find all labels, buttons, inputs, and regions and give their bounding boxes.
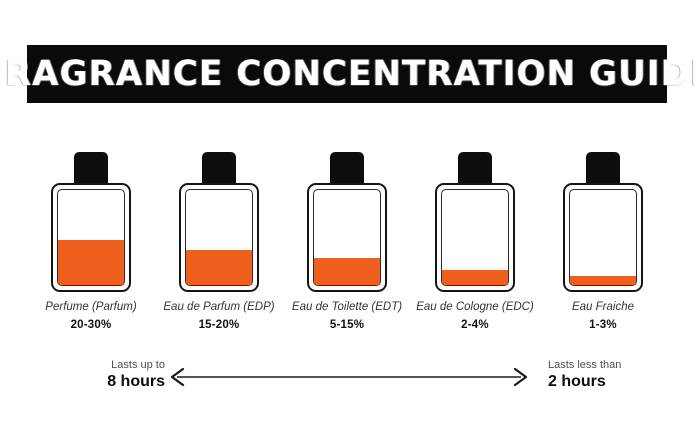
duration-right: Lasts less than 2 hours xyxy=(548,358,668,391)
bottle-labels: Perfume (Parfum) 20-30% Eau de Parfum (E… xyxy=(27,300,668,336)
bottle-body xyxy=(307,183,387,292)
bottle-body xyxy=(435,183,515,292)
bottle-fill-level xyxy=(314,258,380,285)
bottle-inner xyxy=(313,189,381,286)
bottle-label-name: Eau Fraiche xyxy=(528,300,678,315)
duration-scale: Lasts up to 8 hours Lasts less than 2 ho… xyxy=(27,358,668,402)
bottle-inner xyxy=(441,189,509,286)
bottle-body xyxy=(179,183,259,292)
bottle-inner xyxy=(57,189,125,286)
bottle-label-concentration: 1-3% xyxy=(528,317,678,333)
duration-left: Lasts up to 8 hours xyxy=(45,358,165,391)
bottle-inner xyxy=(185,189,253,286)
bottle-fill-level xyxy=(442,270,508,285)
bottle-item-eau-de-parfum[interactable] xyxy=(155,150,283,295)
bottle-body xyxy=(51,183,131,292)
bottle-label-eau-fraiche: Eau Fraiche 1-3% xyxy=(528,300,678,333)
duration-left-value: 8 hours xyxy=(45,372,165,391)
bottle-chart xyxy=(27,150,668,295)
duration-right-value: 2 hours xyxy=(548,372,668,391)
duration-right-caption: Lasts less than xyxy=(548,358,668,372)
page-title: FRAGRANCE CONCENTRATION GUIDE xyxy=(0,57,695,92)
bottle-fill-level xyxy=(570,276,636,285)
bottle-body xyxy=(563,183,643,292)
double-arrow-icon xyxy=(169,366,529,388)
title-banner: FRAGRANCE CONCENTRATION GUIDE xyxy=(27,45,667,103)
duration-left-caption: Lasts up to xyxy=(45,358,165,372)
bottle-item-eau-fraiche[interactable] xyxy=(539,150,667,295)
bottle-item-eau-de-toilette[interactable] xyxy=(283,150,411,295)
bottle-fill-level xyxy=(186,250,252,285)
bottle-item-perfume[interactable] xyxy=(27,150,155,295)
bottle-item-eau-de-cologne[interactable] xyxy=(411,150,539,295)
bottle-fill-level xyxy=(58,240,124,285)
bottle-inner xyxy=(569,189,637,286)
